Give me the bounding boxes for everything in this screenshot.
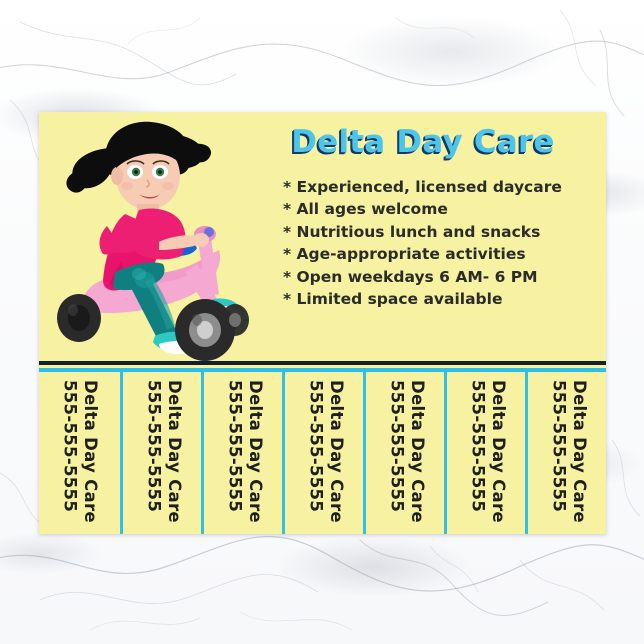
- tab-phone: 555-555-5555: [550, 380, 567, 512]
- list-item: * Nutritious lunch and snacks: [283, 221, 599, 243]
- tear-off-tab[interactable]: 555-555-5555 Delta Day Care: [201, 372, 282, 534]
- list-item: * Limited space available: [283, 288, 599, 310]
- tear-off-tab[interactable]: 555-555-5555 Delta Day Care: [39, 372, 120, 534]
- tab-business-name: Delta Day Care: [409, 380, 426, 523]
- tear-off-tabs-strip: 555-555-5555 Delta Day Care 555-555-5555…: [39, 372, 606, 534]
- list-item: * Open weekdays 6 AM- 6 PM: [283, 266, 599, 288]
- tab-content: 555-555-5555 Delta Day Care: [285, 372, 363, 534]
- tab-business-name: Delta Day Care: [166, 380, 183, 523]
- tear-off-tab[interactable]: 555-555-5555 Delta Day Care: [363, 372, 444, 534]
- list-item: * Age-appropriate activities: [283, 243, 599, 265]
- daycare-flyer: Delta Day Care * Experienced, licensed d…: [39, 112, 606, 534]
- tab-content: 555-555-5555 Delta Day Care: [447, 372, 525, 534]
- list-item: * All ages welcome: [283, 198, 599, 220]
- tab-business-name: Delta Day Care: [328, 380, 345, 523]
- tab-content: 555-555-5555 Delta Day Care: [528, 372, 606, 534]
- tear-off-tab[interactable]: 555-555-5555 Delta Day Care: [282, 372, 363, 534]
- tab-content: 555-555-5555 Delta Day Care: [39, 372, 120, 534]
- tab-phone: 555-555-5555: [307, 380, 324, 512]
- tear-off-tab[interactable]: 555-555-5555 Delta Day Care: [525, 372, 606, 534]
- tab-content: 555-555-5555 Delta Day Care: [123, 372, 201, 534]
- tab-phone: 555-555-5555: [469, 380, 486, 512]
- tab-phone: 555-555-5555: [145, 380, 162, 512]
- tab-phone: 555-555-5555: [226, 380, 243, 512]
- flyer-upper-section: Delta Day Care * Experienced, licensed d…: [39, 112, 606, 365]
- tab-phone: 555-555-5555: [61, 380, 78, 512]
- tab-business-name: Delta Day Care: [571, 380, 588, 523]
- feature-list: * Experienced, licensed daycare * All ag…: [283, 176, 599, 310]
- list-item: * Experienced, licensed daycare: [283, 176, 599, 198]
- tab-business-name: Delta Day Care: [490, 380, 507, 523]
- tab-business-name: Delta Day Care: [247, 380, 264, 523]
- tab-phone: 555-555-5555: [388, 380, 405, 512]
- tear-off-tab[interactable]: 555-555-5555 Delta Day Care: [120, 372, 201, 534]
- marble-backdrop: Delta Day Care * Experienced, licensed d…: [0, 0, 644, 644]
- tear-off-tab[interactable]: 555-555-5555 Delta Day Care: [444, 372, 525, 534]
- tab-content: 555-555-5555 Delta Day Care: [366, 372, 444, 534]
- girl-on-tricycle-icon: [47, 114, 252, 362]
- tab-content: 555-555-5555 Delta Day Care: [204, 372, 282, 534]
- flyer-text-column: Delta Day Care * Experienced, licensed d…: [247, 120, 599, 360]
- tab-business-name: Delta Day Care: [82, 380, 99, 523]
- page-title: Delta Day Care: [247, 124, 599, 160]
